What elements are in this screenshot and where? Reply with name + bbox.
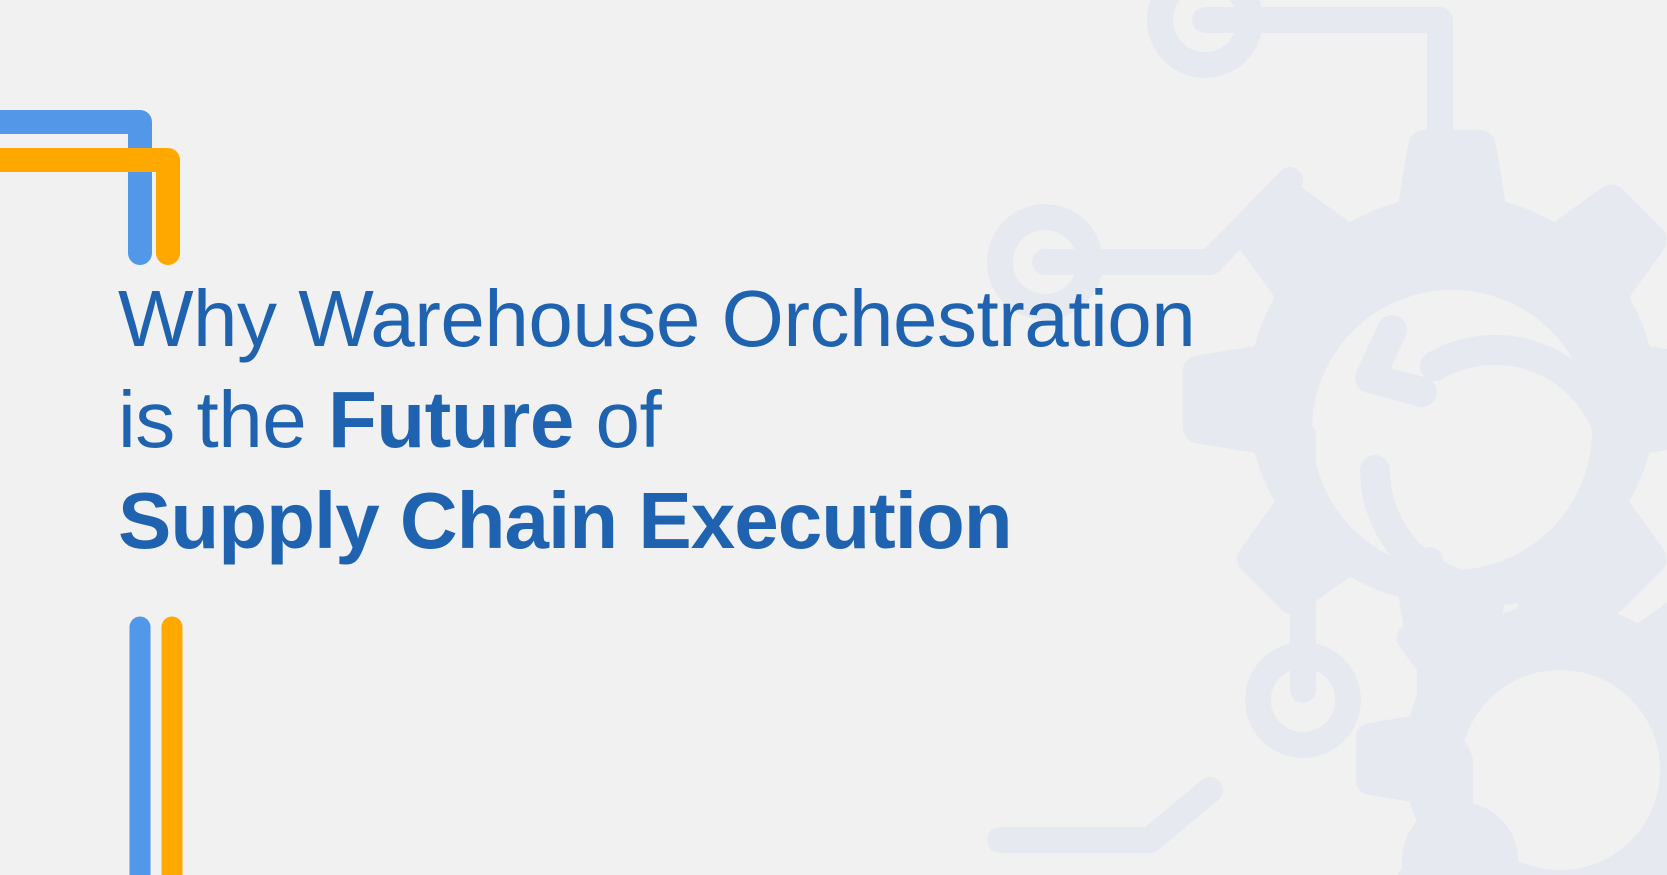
bracket-orange-stroke bbox=[0, 160, 168, 253]
headline-line-2-suffix: of bbox=[574, 375, 661, 464]
circuit-node-a bbox=[1160, 0, 1250, 65]
headline-line-3: Supply Chain Execution bbox=[118, 470, 1478, 571]
headline-emphasis-future: Future bbox=[328, 375, 574, 464]
headline-line-2-prefix: is the bbox=[118, 375, 328, 464]
headline-line-1: Why Warehouse Orchestration bbox=[118, 268, 1478, 369]
corner-bracket bbox=[0, 0, 260, 300]
circuit-trace-bottom bbox=[1430, 560, 1460, 875]
circuit-trace-bottom-left bbox=[1000, 790, 1210, 840]
vertical-accent-bars bbox=[0, 615, 260, 875]
circuit-node-c bbox=[1258, 655, 1348, 745]
page-title: Why Warehouse Orchestration is the Futur… bbox=[118, 268, 1478, 571]
circuit-node-d bbox=[1415, 815, 1505, 875]
circuit-trace-top bbox=[1205, 20, 1440, 160]
circuit-trace-mid bbox=[1045, 180, 1290, 262]
headline-line-2: is the Future of bbox=[118, 369, 1478, 470]
banner: Why Warehouse Orchestration is the Futur… bbox=[0, 0, 1667, 875]
bracket-blue-stroke bbox=[0, 122, 140, 253]
gear-medium-lower bbox=[1356, 555, 1667, 875]
